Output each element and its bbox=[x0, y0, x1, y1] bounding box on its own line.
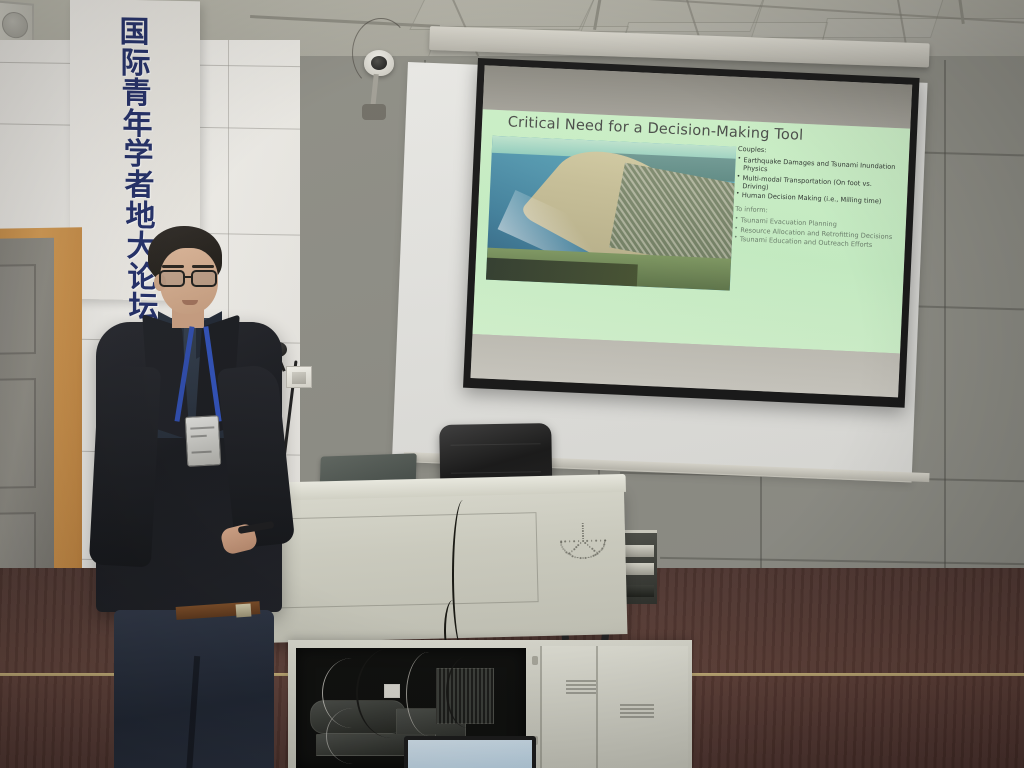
camera-lens-icon bbox=[371, 56, 387, 70]
monitor-screen bbox=[408, 740, 532, 768]
slide-coastal-photo bbox=[486, 136, 736, 291]
slide-bullets-to-inform: Tsunami Evacuation Planning Resource All… bbox=[734, 216, 898, 250]
slide-bullets-couples: Earthquake Damages and Tsunami Inundatio… bbox=[736, 156, 900, 207]
eyeglasses-left-lens bbox=[159, 270, 185, 287]
arm-left bbox=[89, 365, 161, 568]
lecture-hall-photo: 国 际 青 年 学 者 地 大 论 坛 bbox=[0, 0, 1024, 768]
dome-camera-icon bbox=[364, 50, 394, 76]
presenter bbox=[86, 226, 296, 768]
wall-outlet[interactable] bbox=[286, 366, 312, 388]
eyeglasses-bridge bbox=[185, 276, 193, 278]
slide-body-text: Couples: Earthquake Damages and Tsunami … bbox=[733, 145, 900, 257]
eyeglasses-right-lens bbox=[191, 270, 217, 287]
cabinet-door-right[interactable] bbox=[596, 646, 688, 768]
presentation-slide: Critical Need for a Decision-Making Tool… bbox=[472, 109, 910, 353]
name-badge bbox=[185, 415, 222, 467]
projection-screen: Critical Need for a Decision-Making Tool… bbox=[463, 58, 920, 408]
mouth bbox=[182, 300, 198, 305]
camera-base bbox=[362, 104, 386, 120]
confidence-monitor[interactable] bbox=[404, 736, 536, 768]
lectern-vent-right bbox=[557, 516, 610, 563]
belt-buckle bbox=[236, 603, 252, 617]
